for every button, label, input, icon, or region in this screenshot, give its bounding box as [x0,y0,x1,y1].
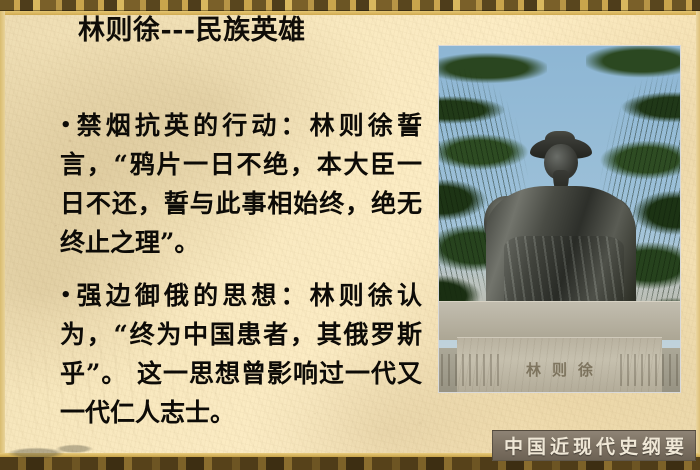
bullet-paragraph-2: •强边御俄的思想：林则徐认为，“终为中国患者，其俄罗斯乎”。 这一思想曾影响过一… [60,276,422,432]
presentation-slide: 林则徐---民族英雄 •禁烟抗英的行动：林则徐誓言，“鸦片一日不绝，本大臣一日不… [0,0,700,470]
pedestal-upper-slab [439,301,680,340]
background-photo-scrap [0,440,120,462]
pedestal-inscription: 林则徐 [439,359,680,380]
bullet-paragraph-1: •禁烟抗英的行动：林则徐誓言，“鸦片一日不绝，本大臣一日不还，誓与此事相始终，绝… [60,106,422,262]
footer-course-title: 中国近现代史纲要 [500,432,688,459]
right-gold-border [696,11,700,455]
slide-title: 林则徐---民族英雄 [78,14,306,48]
bullet-marker: • [60,115,73,136]
left-gold-border [0,11,5,455]
footer-plaque: 中国近现代史纲要 [492,430,696,461]
bullet-marker: • [60,285,73,306]
bullet-text-1: 禁烟抗英的行动：林则徐誓言，“鸦片一日不绝，本大臣一日不还，誓与此事相始终，绝无… [60,111,422,257]
slide-body-text: •禁烟抗英的行动：林则徐誓言，“鸦片一日不绝，本大臣一日不还，誓与此事相始终，绝… [60,106,422,446]
statue-photo: 林则徐 [438,45,681,393]
top-decorative-border [0,0,700,11]
bullet-text-2: 强边御俄的思想：林则徐认为，“终为中国患者，其俄罗斯乎”。 这一思想曾影响过一代… [60,281,422,427]
